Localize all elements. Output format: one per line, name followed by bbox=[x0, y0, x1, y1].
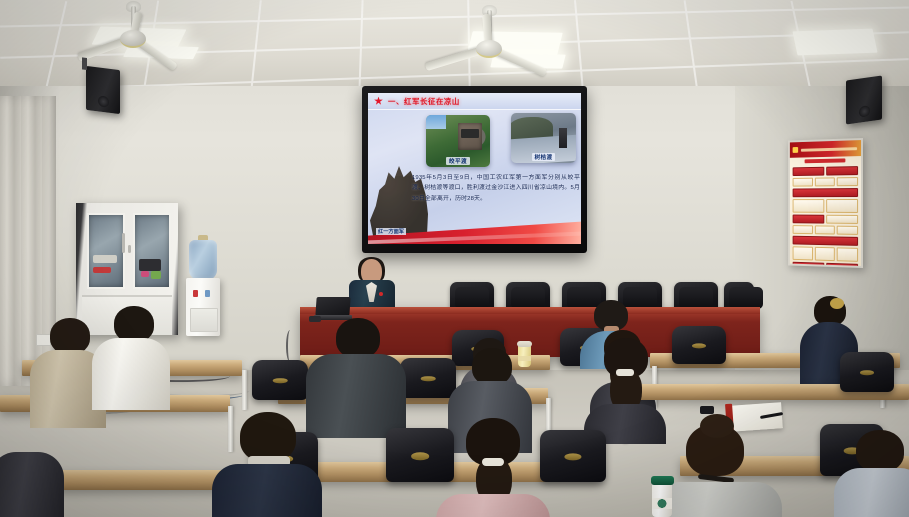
person-torso bbox=[436, 494, 550, 517]
cold-water-tap[interactable] bbox=[205, 290, 210, 297]
person-head bbox=[50, 318, 90, 354]
cabinet-handle-left[interactable] bbox=[122, 233, 125, 253]
slide-header: 一、红军长征在凉山 bbox=[368, 93, 581, 110]
projection-screen[interactable]: 一、红军长征在凉山 皎平渡 树桔渡 红一方面军 1935年5月3日至9日，中国工… bbox=[362, 86, 587, 253]
ceiling bbox=[0, 0, 909, 92]
hair-bun bbox=[700, 414, 734, 438]
audience-person-right-edge bbox=[838, 430, 909, 517]
person-head bbox=[856, 430, 904, 472]
water-bottle bbox=[189, 240, 217, 280]
person-head bbox=[114, 306, 154, 342]
starbucks-cup[interactable] bbox=[652, 482, 672, 517]
lapel-badge bbox=[379, 292, 383, 296]
floor-cable bbox=[286, 330, 294, 362]
party-emblem-icon bbox=[793, 147, 799, 153]
slide-photo-jiaopingdu: 皎平渡 bbox=[426, 115, 490, 167]
cabinet-glass-door-left[interactable] bbox=[87, 213, 125, 289]
party-work-flowchart-poster bbox=[788, 138, 863, 268]
cabinet-handle-right[interactable] bbox=[128, 245, 131, 253]
person-torso bbox=[654, 482, 782, 517]
photo-caption-left: 皎平渡 bbox=[446, 157, 470, 165]
chair-row2[interactable] bbox=[840, 352, 894, 392]
ceiling-fan-left bbox=[88, 6, 178, 46]
cabinet-glass-door-right[interactable] bbox=[133, 213, 171, 289]
audience-person-foreground-center bbox=[442, 418, 544, 517]
smartphone[interactable] bbox=[700, 406, 714, 414]
wall-speaker-right bbox=[846, 75, 882, 124]
wall-speaker-left bbox=[86, 66, 120, 114]
poster-header bbox=[790, 140, 861, 158]
slide-body-text: 1935年5月3日至9日，中国工农红军第一方面军分别从皎平渡、树桔渡等渡口，胜利… bbox=[412, 173, 580, 204]
statue-caption: 红一方面军 bbox=[376, 228, 406, 235]
room-photo: 一、红军长征在凉山 皎平渡 树桔渡 红一方面军 1935年5月3日至9日，中国工… bbox=[0, 0, 909, 517]
audience-person-left-edge bbox=[0, 452, 64, 517]
hair-bun bbox=[830, 298, 844, 309]
person-torso bbox=[0, 452, 64, 517]
chair-row1[interactable] bbox=[672, 326, 726, 364]
photo-caption-right: 树桔渡 bbox=[532, 153, 556, 161]
slide-title: 一、红军长征在凉山 bbox=[388, 96, 460, 107]
person-head bbox=[240, 412, 296, 462]
person-torso bbox=[212, 464, 322, 517]
poster-flowchart bbox=[790, 164, 861, 268]
person-head bbox=[472, 348, 512, 385]
red-star-icon bbox=[374, 97, 383, 106]
laptop-screen bbox=[315, 297, 350, 316]
chair-row2[interactable] bbox=[252, 360, 308, 400]
hot-water-tap[interactable] bbox=[193, 290, 198, 297]
water-dispenser[interactable] bbox=[186, 240, 220, 336]
person-torso bbox=[834, 468, 909, 517]
ceiling-light-panel bbox=[792, 29, 877, 56]
person-head bbox=[336, 318, 380, 358]
audience-person-bun-foreground bbox=[660, 420, 776, 517]
dispenser-cabinet-door[interactable] bbox=[190, 308, 218, 332]
ceiling-fan-center bbox=[434, 10, 544, 54]
audience-person-ponytail-right bbox=[588, 338, 662, 434]
person-torso bbox=[92, 338, 170, 410]
audience-person-navy-sweater bbox=[212, 412, 322, 517]
presentation-slide: 一、红军长征在凉山 皎平渡 树桔渡 红一方面军 1935年5月3日至9日，中国工… bbox=[368, 93, 581, 244]
chair-row3[interactable] bbox=[540, 430, 606, 482]
slide-photo-shujudu: 树桔渡 bbox=[511, 113, 576, 163]
desk-leg bbox=[242, 370, 247, 410]
audience-person-white-shirt bbox=[92, 306, 170, 404]
